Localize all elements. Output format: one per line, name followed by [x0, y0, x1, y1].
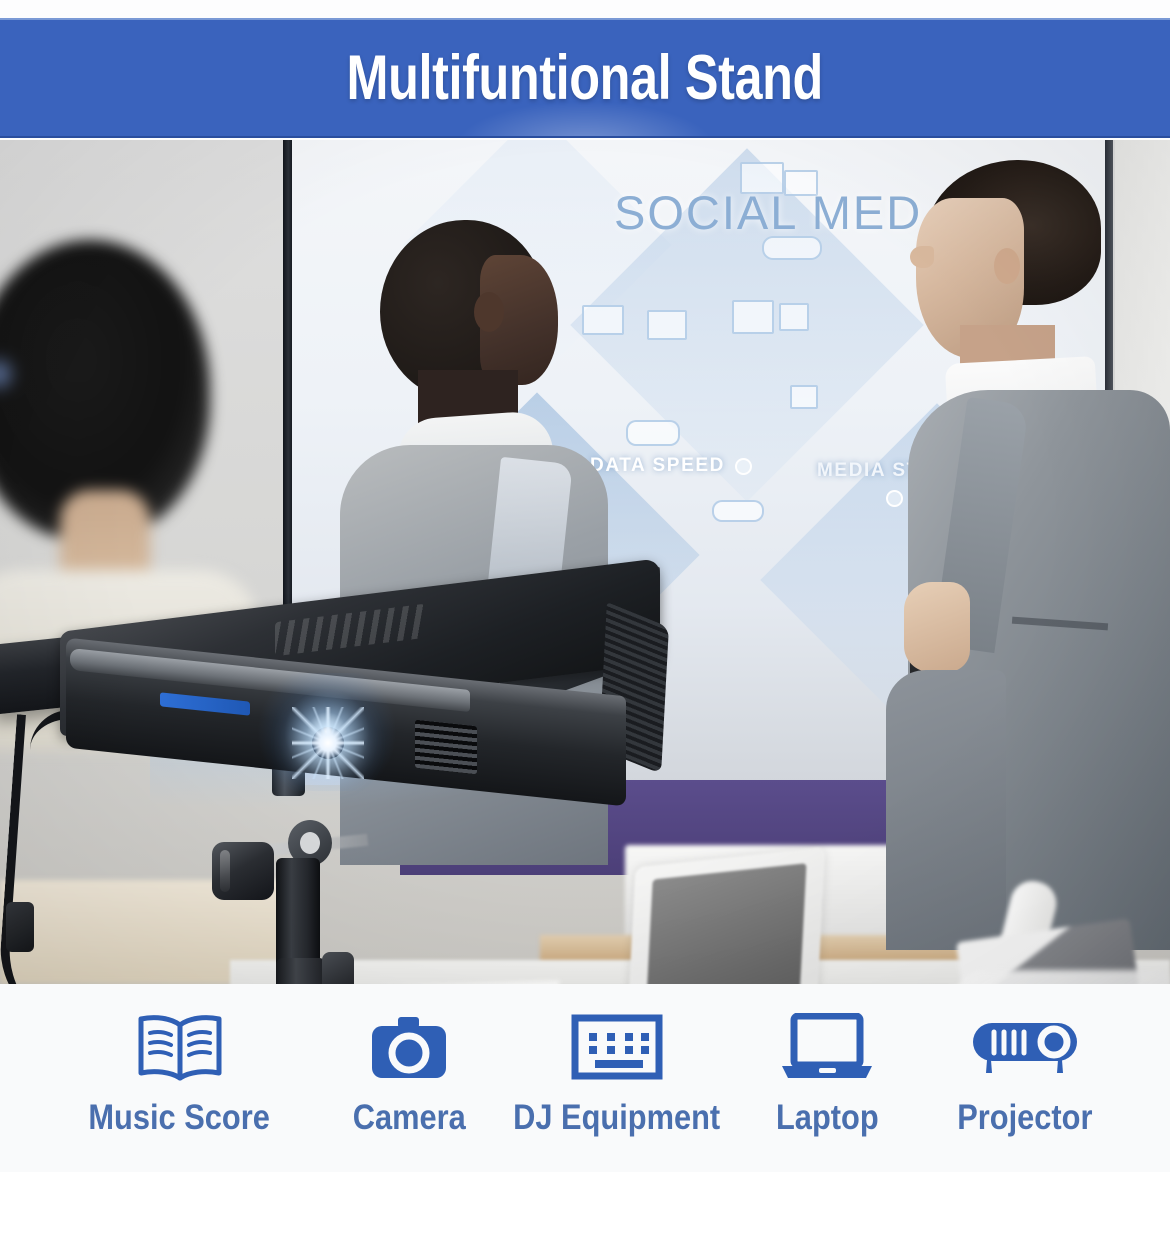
page-bottom-margin [0, 1172, 1170, 1245]
feature-icon-strip: Music Score Camera [0, 984, 1170, 1172]
laptop-screen [643, 863, 806, 984]
slide-title: SOCIAL MED [614, 185, 922, 240]
feature-music-score: Music Score [38, 1012, 321, 1135]
dj-keyboard-icon [571, 1012, 663, 1084]
slide-bullet-dot [735, 458, 752, 475]
laptop-on-table [608, 858, 858, 984]
page-title: Multifuntional Stand [347, 47, 823, 110]
projector-device [60, 595, 660, 800]
presenter-with-microphone [890, 150, 1170, 940]
lens-flare-core [312, 727, 344, 759]
product-lifestyle-photo: SOCIAL MED DATA SPEED MEDIA STR global [0, 140, 1170, 984]
suit-sleeve [886, 670, 1006, 950]
slide-icon-box [712, 500, 764, 522]
slide-icon-box [779, 303, 809, 331]
attendee-arm [955, 970, 1170, 984]
product-infographic-page: Multifuntional Stand SOCIAL MED DATA SPE… [0, 0, 1170, 1245]
open-book-icon [131, 1012, 229, 1084]
ear [994, 248, 1020, 284]
feature-projector: Projector [917, 1012, 1132, 1135]
nose [910, 246, 934, 268]
slide-label-data-speed: DATA SPEED [590, 455, 725, 477]
slide-icon-box [647, 310, 687, 340]
stand-clamp-knob-upper [322, 952, 354, 984]
projector-exhaust-vent [415, 720, 477, 775]
slide-icon-box [732, 300, 774, 334]
ear [474, 292, 504, 332]
stand-tilt-knob [212, 842, 274, 900]
feature-dj-equipment: DJ Equipment [497, 1012, 737, 1135]
slide-icon-box [626, 420, 680, 446]
hand [904, 582, 970, 672]
camera-icon [371, 1012, 447, 1084]
header-banner: Multifuntional Stand [0, 18, 1170, 138]
cable-ferrite-bead [6, 902, 34, 952]
feature-label: Laptop [776, 1100, 879, 1135]
feature-label: Music Score [89, 1100, 270, 1135]
stand-height-clamp-upper [276, 958, 326, 984]
feature-label: DJ Equipment [513, 1100, 720, 1135]
feature-label: Camera [352, 1100, 465, 1135]
feature-laptop: Laptop [737, 1012, 917, 1135]
feature-label: Projector [957, 1100, 1092, 1135]
feature-camera: Camera [321, 1012, 497, 1135]
slide-icon-box [790, 385, 818, 409]
projector-icon [970, 1012, 1080, 1084]
laptop-icon [779, 1012, 875, 1084]
